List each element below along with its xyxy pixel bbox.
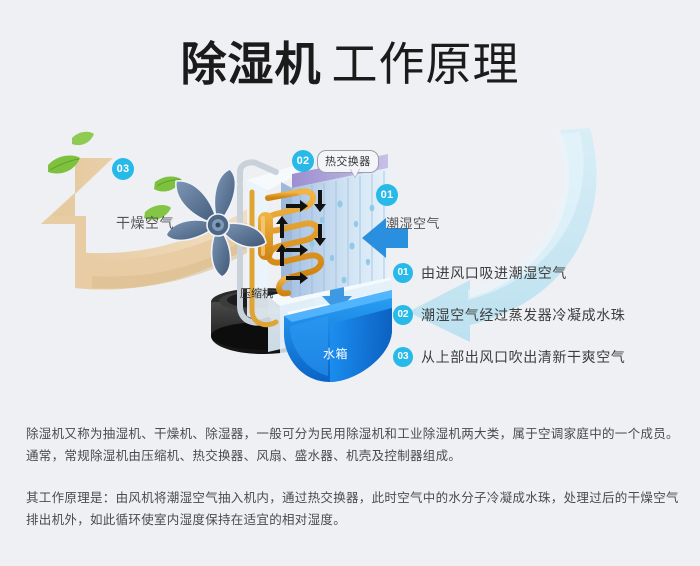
legend-item-01: 01 由进风口吸进潮湿空气: [393, 252, 693, 294]
description-p1-line1: 除湿机又称为抽湿机、干燥机、除湿器，一般可分为民用除湿机和工业除湿机两大类，属于…: [26, 423, 681, 445]
page-title-primary: 除湿机: [181, 37, 322, 91]
process-legend-list: 01 由进风口吸进潮湿空气 02 潮湿空气经过蒸发器冷凝成水珠 03 从上部出风…: [393, 252, 693, 378]
page-title-secondary: 工作原理: [332, 38, 520, 90]
humid-air-label: 潮湿空气: [386, 213, 440, 232]
diagram-badge-01: 01: [376, 184, 398, 206]
legend-badge-01: 01: [393, 263, 413, 283]
water-tank-label: 水箱: [323, 345, 348, 362]
description-p2-line2: 排出机外，如此循环使室内湿度保持在适宜的相对湿度。: [26, 509, 681, 531]
dry-air-label: 干燥空气: [116, 213, 174, 233]
legend-label-02: 潮湿空气经过蒸发器冷凝成水珠: [421, 305, 625, 325]
diagram-badge-03: 03: [112, 158, 134, 180]
description-paragraph-1: 除湿机又称为抽湿机、干燥机、除湿器，一般可分为民用除湿机和工业除湿机两大类，属于…: [26, 423, 681, 467]
dehumidifier-infographic-page: { "title": { "strong": "除湿机", "light": "…: [0, 0, 700, 566]
heat-exchanger-callout-tail: [350, 168, 360, 177]
description-p1-line2: 通常，常规除湿机由压缩机、热交换器、风扇、盛水器、机壳及控制器组成。: [26, 445, 681, 467]
legend-badge-02: 02: [393, 305, 413, 325]
page-title: 除湿机工作原理: [0, 28, 700, 94]
description-p2-line1: 其工作原理是：由风机将潮湿空气抽入机内，通过热交换器，此时空气中的水分子冷凝成水…: [26, 487, 681, 509]
legend-label-03: 从上部出风口吹出清新干爽空气: [421, 347, 625, 367]
compressor-label: 压缩机: [240, 285, 273, 301]
description-paragraph-2: 其工作原理是：由风机将潮湿空气抽入机内，通过热交换器，此时空气中的水分子冷凝成水…: [26, 487, 681, 531]
diagram-badge-02: 02: [292, 150, 314, 172]
heat-exchanger-callout: 热交换器: [317, 150, 379, 173]
legend-badge-03: 03: [393, 347, 413, 367]
legend-item-02: 02 潮湿空气经过蒸发器冷凝成水珠: [393, 294, 693, 336]
legend-item-03: 03 从上部出风口吹出清新干爽空气: [393, 336, 693, 378]
legend-label-01: 由进风口吸进潮湿空气: [421, 263, 567, 283]
